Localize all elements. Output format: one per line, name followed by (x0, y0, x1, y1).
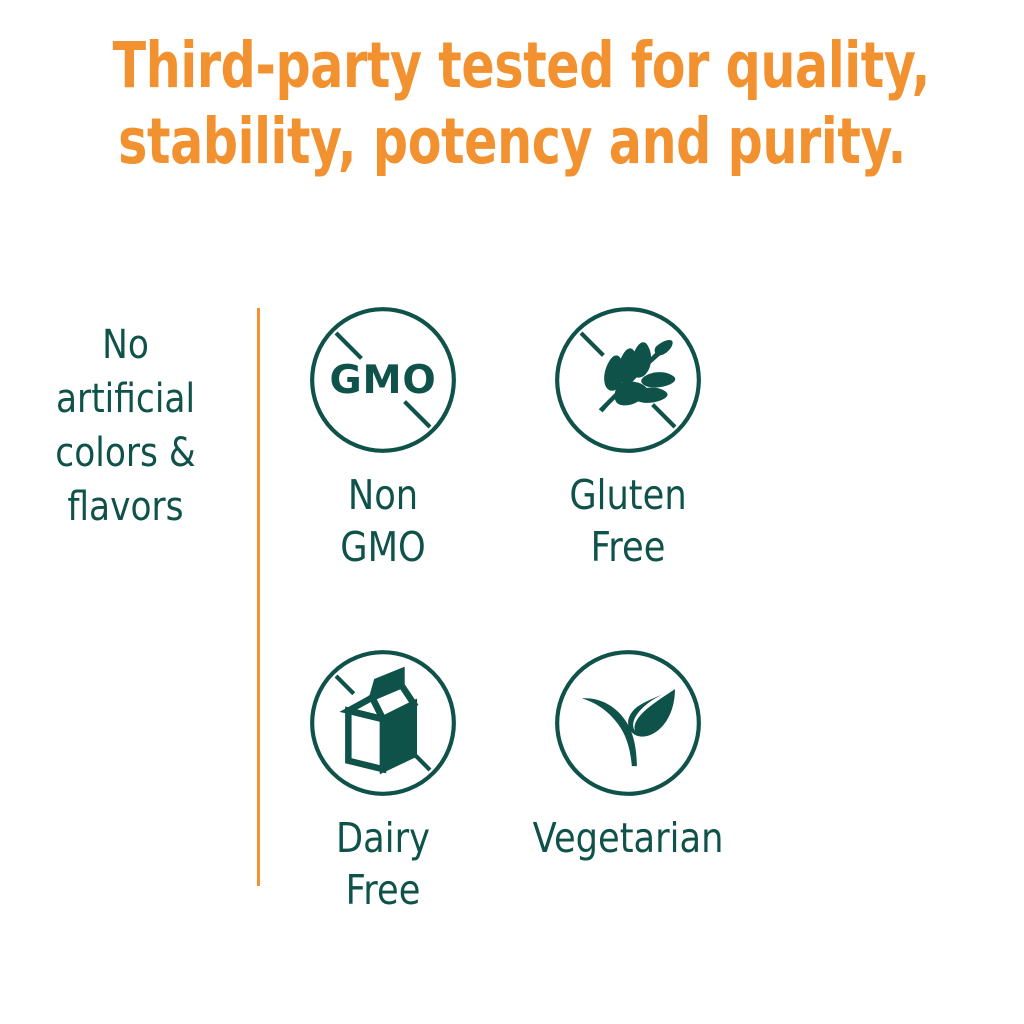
badge-non-gmo: GMO Non GMO (268, 303, 498, 573)
non-gmo-icon: GMO (306, 303, 460, 457)
badge-label-dairy-free: Dairy Free (284, 812, 482, 916)
headline-line-1: Third-party tested for quality, (113, 28, 912, 104)
promo-panel: Third-party tested for quality, stabilit… (0, 0, 1024, 1024)
badge-gluten-free: Gluten Free (513, 303, 743, 573)
no-artificial-claim: No artificial colors & flavors (42, 318, 210, 534)
gluten-free-icon (551, 303, 705, 457)
non-gmo-icon-text: GMO (330, 358, 437, 403)
dairy-free-icon (306, 646, 460, 800)
badge-label-gluten-free: Gluten Free (529, 469, 727, 573)
badge-label-non-gmo: Non GMO (284, 469, 482, 573)
claim-line-2: artificial (42, 372, 210, 426)
claim-line-1: No (42, 318, 210, 372)
badge-dairy-free: Dairy Free (268, 646, 498, 916)
claim-line-3: colors & (42, 426, 210, 480)
headline-line-2: stability, potency and purity. (113, 104, 912, 180)
badge-vegetarian: Vegetarian (513, 646, 743, 864)
page-title: Third-party tested for quality, stabilit… (113, 28, 912, 180)
badge-label-vegetarian: Vegetarian (529, 812, 727, 864)
vegetarian-icon (551, 646, 705, 800)
vertical-divider (257, 308, 260, 886)
claim-line-4: flavors (42, 480, 210, 534)
